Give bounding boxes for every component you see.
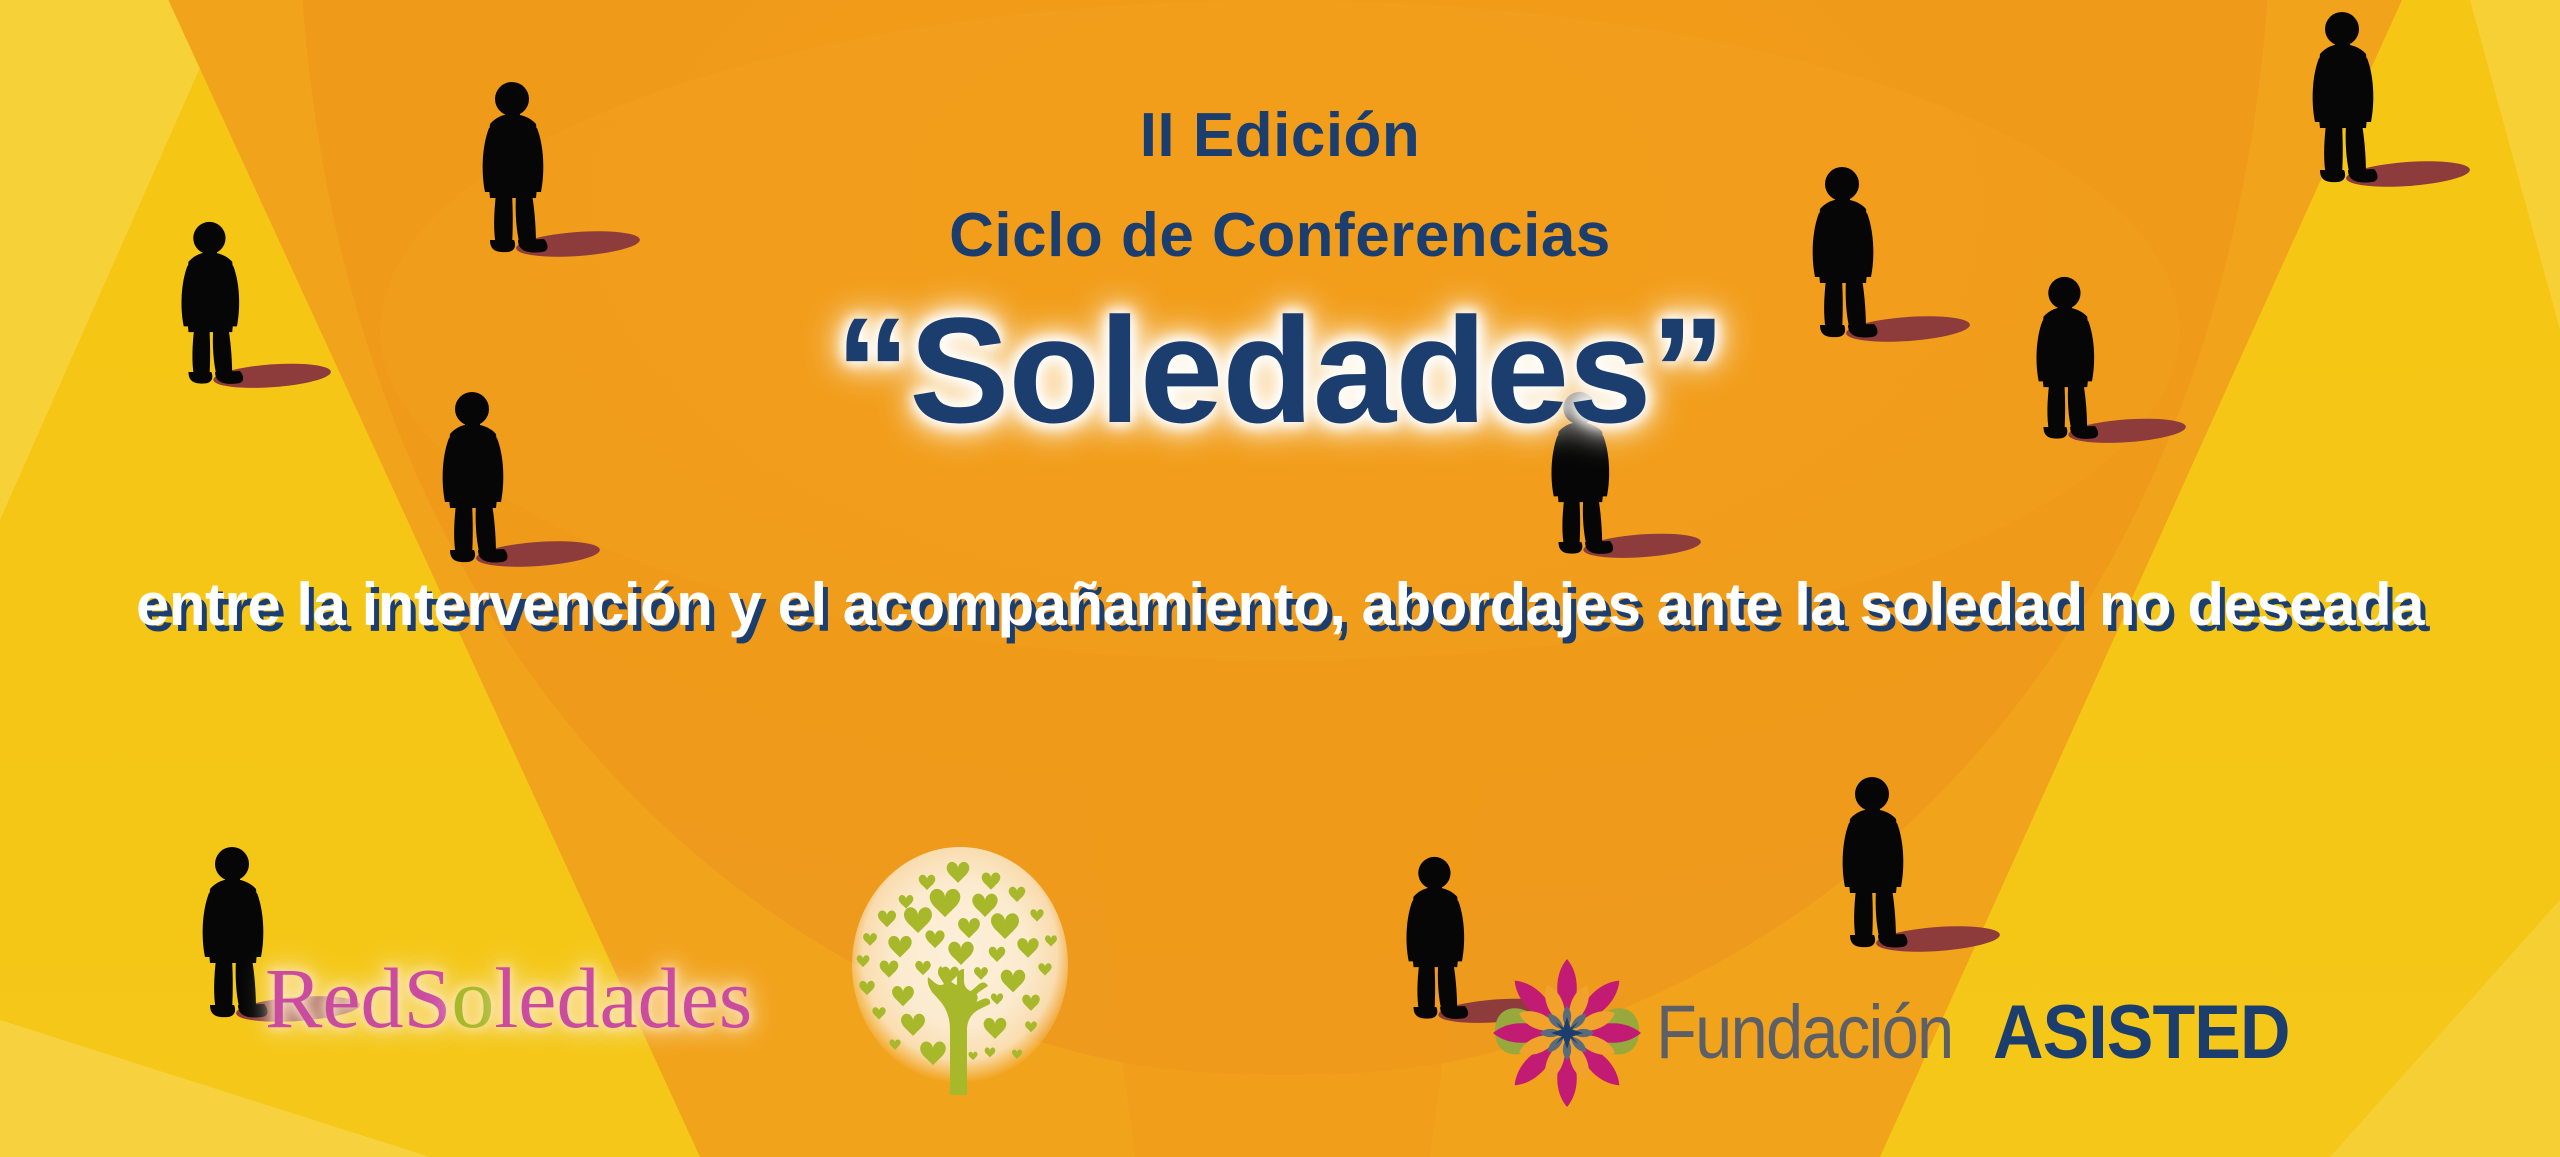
redsoledades-logo[interactable]: RedSoledades xyxy=(265,955,752,1041)
subtitle-line: entre la intervención y el acompañamient… xyxy=(0,575,2560,635)
mandala-flower-icon xyxy=(1492,958,1642,1108)
fundacion-asisted-logo[interactable]: FundaciónASISTED xyxy=(1492,958,2315,1108)
heart-tree-icon xyxy=(845,845,1075,1105)
asisted-fundacion-text: Fundación xyxy=(1656,995,1952,1071)
page-title: “Soledades” xyxy=(0,295,2560,445)
redsoledades-text-highlight: o xyxy=(451,950,494,1046)
asisted-wordmark: FundaciónASISTED xyxy=(1656,995,2315,1071)
cycle-line: Ciclo de Conferencias xyxy=(0,205,2560,267)
asisted-name-text: ASISTED xyxy=(1993,995,2290,1071)
redsoledades-wordmark: RedSoledades xyxy=(265,955,752,1041)
redsoledades-text-part2: ledades xyxy=(494,950,752,1046)
edition-line: II Edición xyxy=(0,105,2560,167)
flower-star-core xyxy=(1551,1017,1583,1049)
heart-tree-logo xyxy=(845,845,1075,1105)
conference-banner: II Edición Ciclo de Conferencias “Soleda… xyxy=(0,0,2560,1157)
redsoledades-text-part1: RedS xyxy=(265,950,451,1046)
